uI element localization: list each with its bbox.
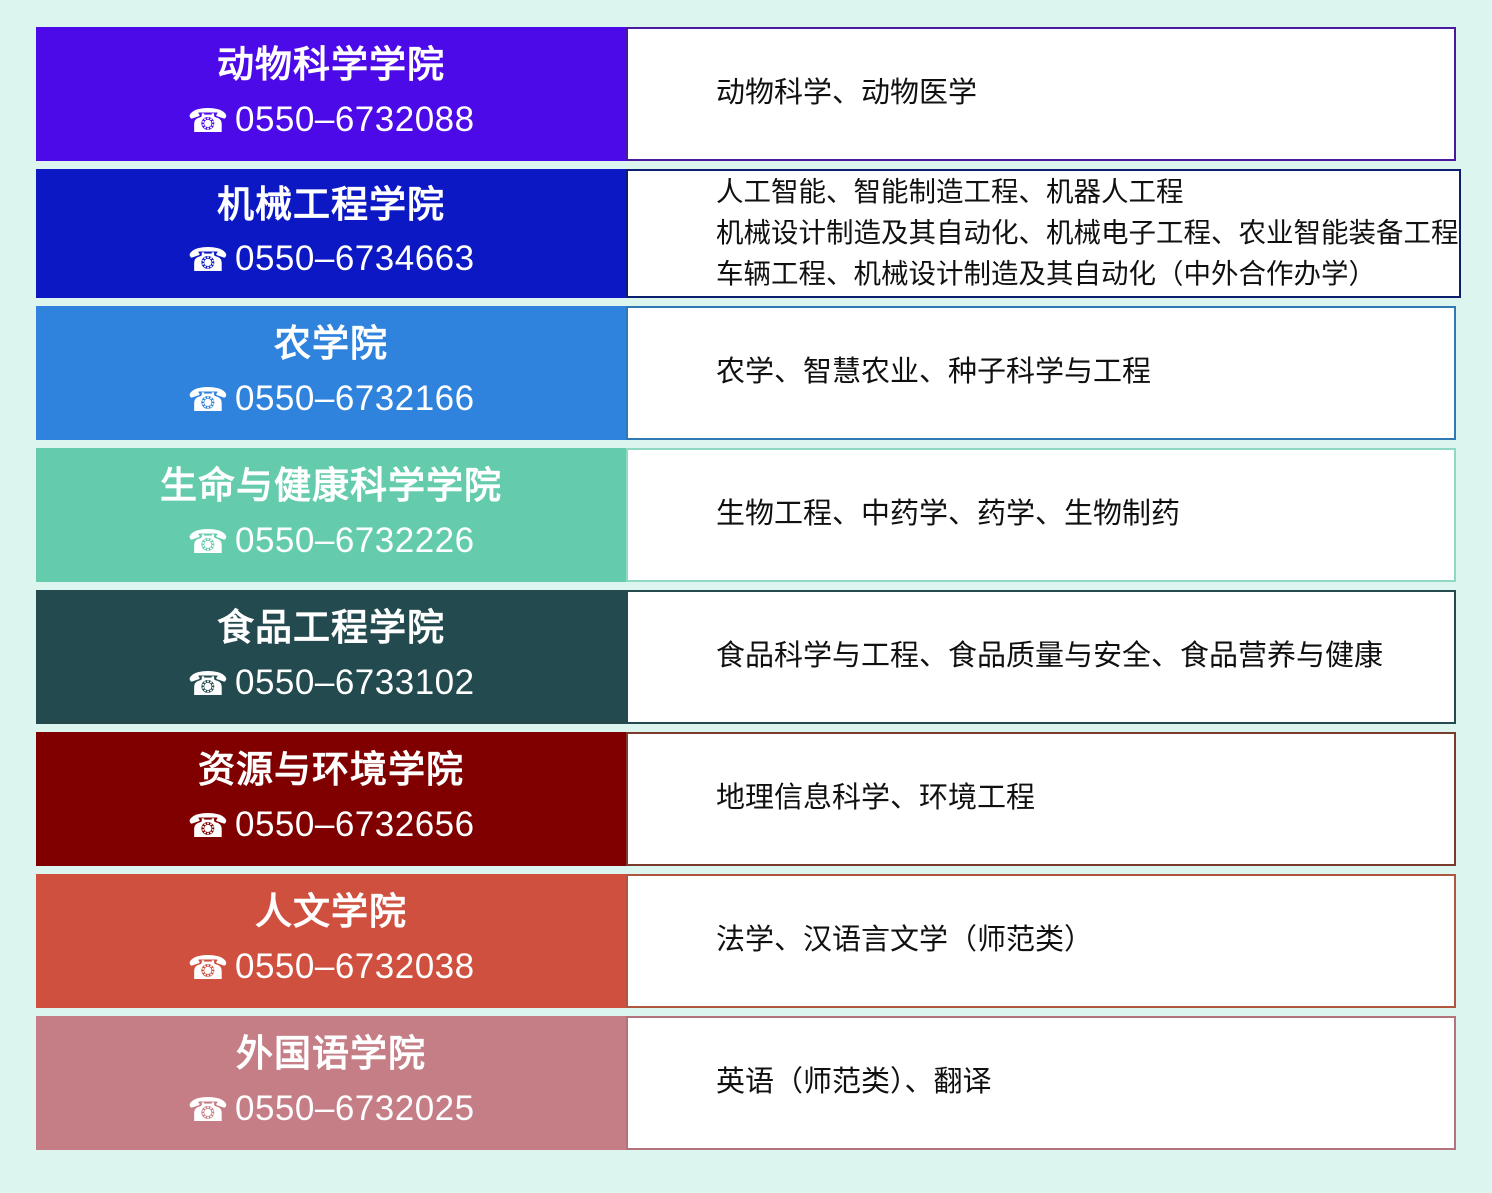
telephone-icon: ☎ [187, 523, 229, 560]
phone-number: 0550–6734663 [235, 239, 475, 278]
table-row: 农学院☎0550–6732166农学、智慧农业、种子科学与工程 [36, 306, 1456, 440]
telephone-icon: ☎ [187, 102, 229, 139]
college-name: 生命与健康科学学院 [160, 464, 502, 508]
major-line: 法学、汉语言文学（师范类） [716, 920, 1454, 961]
college-phone[interactable]: ☎0550–6732038 [187, 944, 474, 990]
majors-cell: 食品科学与工程、食品质量与安全、食品营养与健康 [626, 590, 1456, 724]
major-line: 动物科学、动物医学 [716, 73, 1454, 114]
phone-number: 0550–6733102 [235, 663, 475, 702]
major-line: 机械设计制造及其自动化、机械电子工程、农业智能装备工程 [716, 213, 1459, 254]
college-phone[interactable]: ☎0550–6732166 [187, 376, 474, 422]
phone-number: 0550–6732038 [235, 947, 475, 986]
table-row: 资源与环境学院☎0550–6732656地理信息科学、环境工程 [36, 732, 1456, 866]
college-phone[interactable]: ☎0550–6733102 [187, 660, 474, 706]
table-row: 人文学院☎0550–6732038法学、汉语言文学（师范类） [36, 874, 1456, 1008]
college-name-cell: 机械工程学院☎0550–6734663 [36, 169, 626, 298]
phone-number: 0550–6732226 [235, 521, 475, 560]
majors-cell: 农学、智慧农业、种子科学与工程 [626, 306, 1456, 440]
major-line: 人工智能、智能制造工程、机器人工程 [716, 172, 1459, 213]
phone-number: 0550–6732088 [235, 100, 475, 139]
college-name-cell: 人文学院☎0550–6732038 [36, 874, 626, 1008]
college-phone[interactable]: ☎0550–6732088 [187, 97, 474, 143]
college-contact-table: 动物科学学院☎0550–6732088动物科学、动物医学机械工程学院☎0550–… [36, 27, 1456, 1158]
table-row: 动物科学学院☎0550–6732088动物科学、动物医学 [36, 27, 1456, 161]
college-phone[interactable]: ☎0550–6734663 [187, 236, 474, 282]
phone-number: 0550–6732656 [235, 805, 475, 844]
majors-cell: 法学、汉语言文学（师范类） [626, 874, 1456, 1008]
major-line: 生物工程、中药学、药学、生物制药 [716, 494, 1454, 535]
majors-cell: 地理信息科学、环境工程 [626, 732, 1456, 866]
telephone-icon: ☎ [187, 1091, 229, 1128]
table-row: 机械工程学院☎0550–6734663人工智能、智能制造工程、机器人工程机械设计… [36, 169, 1456, 298]
college-phone[interactable]: ☎0550–6732656 [187, 802, 474, 848]
college-name: 农学院 [274, 322, 388, 366]
college-name: 外国语学院 [236, 1032, 426, 1076]
college-name: 动物科学学院 [217, 43, 445, 87]
major-line: 地理信息科学、环境工程 [716, 778, 1454, 819]
college-name: 机械工程学院 [217, 183, 445, 227]
college-name-cell: 食品工程学院☎0550–6733102 [36, 590, 626, 724]
table-row: 食品工程学院☎0550–6733102食品科学与工程、食品质量与安全、食品营养与… [36, 590, 1456, 724]
college-phone[interactable]: ☎0550–6732226 [187, 518, 474, 564]
phone-number: 0550–6732166 [235, 379, 475, 418]
college-name-cell: 外国语学院☎0550–6732025 [36, 1016, 626, 1150]
telephone-icon: ☎ [187, 381, 229, 418]
college-name: 食品工程学院 [217, 606, 445, 650]
college-name: 人文学院 [255, 890, 407, 934]
majors-cell: 生物工程、中药学、药学、生物制药 [626, 448, 1456, 582]
major-line: 农学、智慧农业、种子科学与工程 [716, 352, 1454, 393]
college-name-cell: 动物科学学院☎0550–6732088 [36, 27, 626, 161]
majors-cell: 英语（师范类）、翻译 [626, 1016, 1456, 1150]
table-row: 外国语学院☎0550–6732025英语（师范类）、翻译 [36, 1016, 1456, 1150]
major-line: 食品科学与工程、食品质量与安全、食品营养与健康 [716, 636, 1454, 677]
college-name: 资源与环境学院 [198, 748, 464, 792]
majors-cell: 动物科学、动物医学 [626, 27, 1456, 161]
phone-number: 0550–6732025 [235, 1089, 475, 1128]
telephone-icon: ☎ [187, 665, 229, 702]
telephone-icon: ☎ [187, 241, 229, 278]
telephone-icon: ☎ [187, 807, 229, 844]
majors-cell: 人工智能、智能制造工程、机器人工程机械设计制造及其自动化、机械电子工程、农业智能… [626, 169, 1461, 298]
major-line: 英语（师范类）、翻译 [716, 1062, 1454, 1103]
college-name-cell: 农学院☎0550–6732166 [36, 306, 626, 440]
table-row: 生命与健康科学学院☎0550–6732226生物工程、中药学、药学、生物制药 [36, 448, 1456, 582]
telephone-icon: ☎ [187, 949, 229, 986]
college-phone[interactable]: ☎0550–6732025 [187, 1086, 474, 1132]
major-line: 车辆工程、机械设计制造及其自动化（中外合作办学） [716, 254, 1459, 295]
college-name-cell: 生命与健康科学学院☎0550–6732226 [36, 448, 626, 582]
college-name-cell: 资源与环境学院☎0550–6732656 [36, 732, 626, 866]
